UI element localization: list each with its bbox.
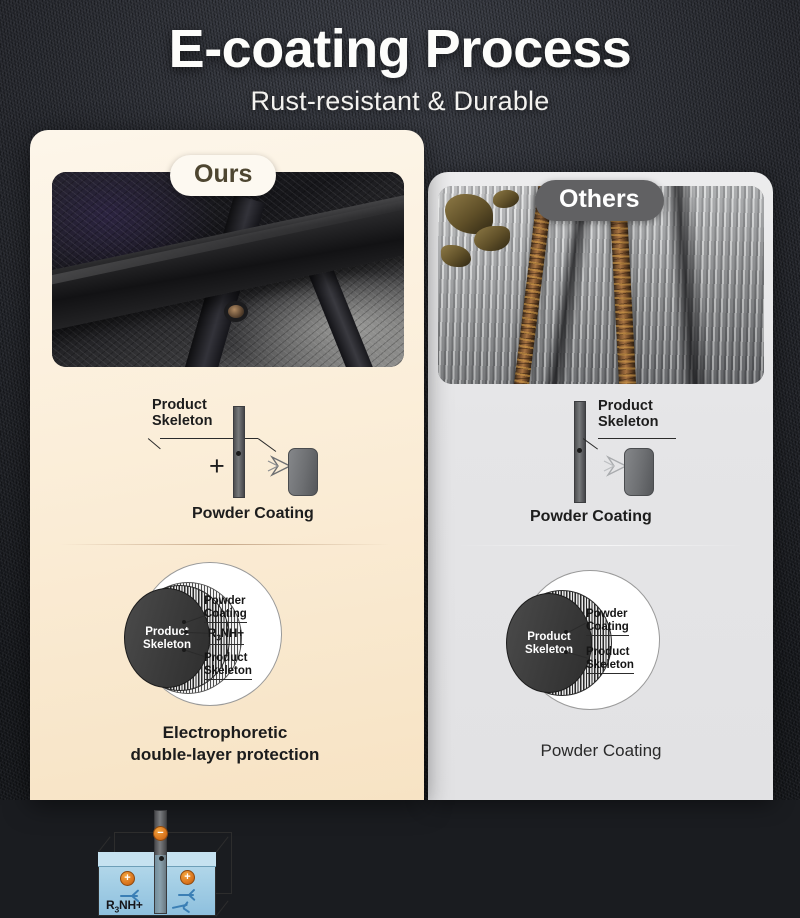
page-subtitle: Rust-resistant & Durable <box>0 86 800 117</box>
lead-anchor-dot <box>159 856 164 861</box>
badge-ours: Ours <box>170 155 276 196</box>
divider-others <box>456 545 746 546</box>
label-powder-coating-ours: Powder Coating <box>192 505 314 522</box>
electrolyte-label: R3NH+ <box>106 898 143 914</box>
lead-anchor-dot <box>182 648 186 652</box>
label-powder-coating: Powder Coating <box>586 608 629 636</box>
header: E-coating Process Rust-resistant & Durab… <box>0 0 800 117</box>
leader-line <box>148 438 161 449</box>
diagram-others-powder: Product Skeleton Powder Coating <box>450 395 770 535</box>
electrophoresis-tank: + + R3NH+ − <box>98 832 233 918</box>
spray-gun-icon <box>624 448 654 496</box>
label-r3nh: R3NH+ <box>208 628 244 645</box>
core-label: Product Skeleton <box>132 626 202 652</box>
tank-edge <box>215 900 228 917</box>
lead-anchor-dot <box>564 650 568 654</box>
lead-anchor-dot <box>236 451 241 456</box>
bolt-icon <box>228 305 244 318</box>
polymer-molecule-icon <box>172 901 194 915</box>
leader-line <box>258 438 277 452</box>
lead-anchor-dot <box>182 620 186 624</box>
page-title: E-coating Process <box>0 18 800 80</box>
divider-ours <box>60 544 390 545</box>
leader-line <box>598 438 676 439</box>
polymer-molecule-icon <box>178 887 200 901</box>
badge-others: Others <box>535 180 664 221</box>
label-powder-coating: Powder Coating <box>204 595 247 623</box>
lead-anchor-dot <box>564 630 568 634</box>
lead-anchor-dot <box>577 448 582 453</box>
caption-others: Powder Coating <box>438 740 764 762</box>
tank-edge <box>97 836 110 853</box>
cross-section-others: Product Skeleton Powder Coating Product … <box>512 568 672 718</box>
label-product-skeleton-others: Product Skeleton <box>598 399 658 430</box>
ion-negative: − <box>153 826 168 841</box>
label-product-skeleton: Product Skeleton <box>586 646 634 674</box>
label-powder-coating-others: Powder Coating <box>530 508 652 525</box>
caption-ours: Electrophoretic double-layer protection <box>40 722 410 767</box>
label-product-skeleton: Product Skeleton <box>204 652 252 680</box>
cross-section-ours: Product Skeleton Powder Coating R3NH+ Pr… <box>130 558 290 718</box>
plus-sign: + <box>209 452 225 481</box>
lead-anchor-dot <box>184 630 188 634</box>
diagram-ours-electrophoresis: + + R3NH+ − Product Skeleton + Powder Co… <box>40 395 420 540</box>
spray-gun-icon <box>288 448 318 496</box>
photo-ours-coated-bar <box>52 172 404 367</box>
ion-positive: + <box>180 870 195 885</box>
label-product-skeleton-ours: Product Skeleton <box>152 398 212 429</box>
ion-positive: + <box>120 871 135 886</box>
